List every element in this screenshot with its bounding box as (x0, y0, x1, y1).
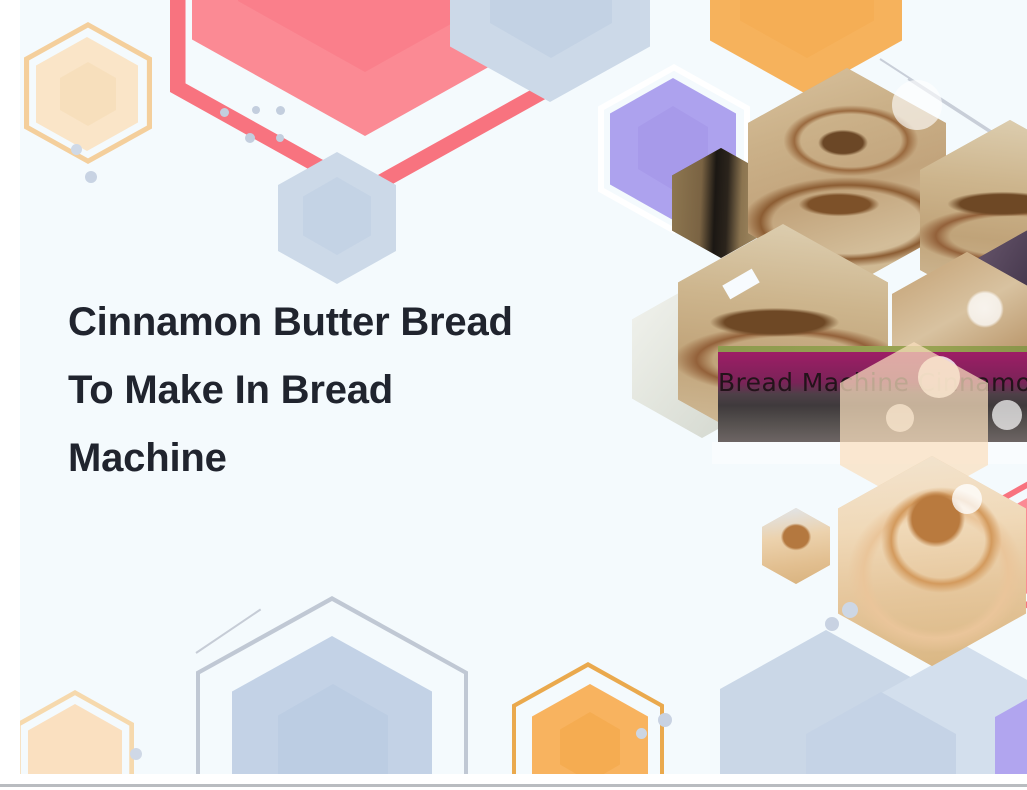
decor-dot (276, 134, 284, 142)
bokeh-circle (992, 400, 1022, 430)
decor-dot (636, 728, 647, 739)
decor-dot (130, 748, 142, 760)
bokeh-circle (952, 484, 982, 514)
page-title-line-3: Machine (68, 424, 648, 492)
hexagon-cream-bottomleft (28, 704, 122, 774)
decor-dot (658, 713, 672, 727)
decor-dot (842, 602, 858, 618)
page-title-line-1: Cinnamon Butter Bread (68, 288, 648, 356)
banner-top-band (718, 346, 1027, 352)
page-bottom-rule (0, 784, 1027, 787)
photo-hex-cinnamon-roll-small (762, 508, 830, 584)
decor-dot (245, 133, 255, 143)
decor-dot (71, 144, 82, 155)
page-root: Bread Machine Cinnamon Rolls Cinnamon Bu… (0, 0, 1027, 790)
decor-dot (276, 106, 285, 115)
photo-hex-cinnamon-roll-glazed (838, 456, 1026, 666)
hero-banner: Bread Machine Cinnamon Rolls Cinnamon Bu… (20, 0, 1027, 774)
page-title: Cinnamon Butter Bread To Make In Bread M… (68, 288, 648, 492)
decor-dot (252, 106, 260, 114)
page-title-line-2: To Make In Bread (68, 356, 648, 424)
decor-dot (220, 108, 229, 117)
decor-dot (85, 171, 97, 183)
hexagon-photo-collage: Bread Machine Cinnamon Rolls (620, 0, 1027, 690)
page-bottom-gap (0, 774, 1027, 784)
bokeh-circle (892, 80, 942, 130)
